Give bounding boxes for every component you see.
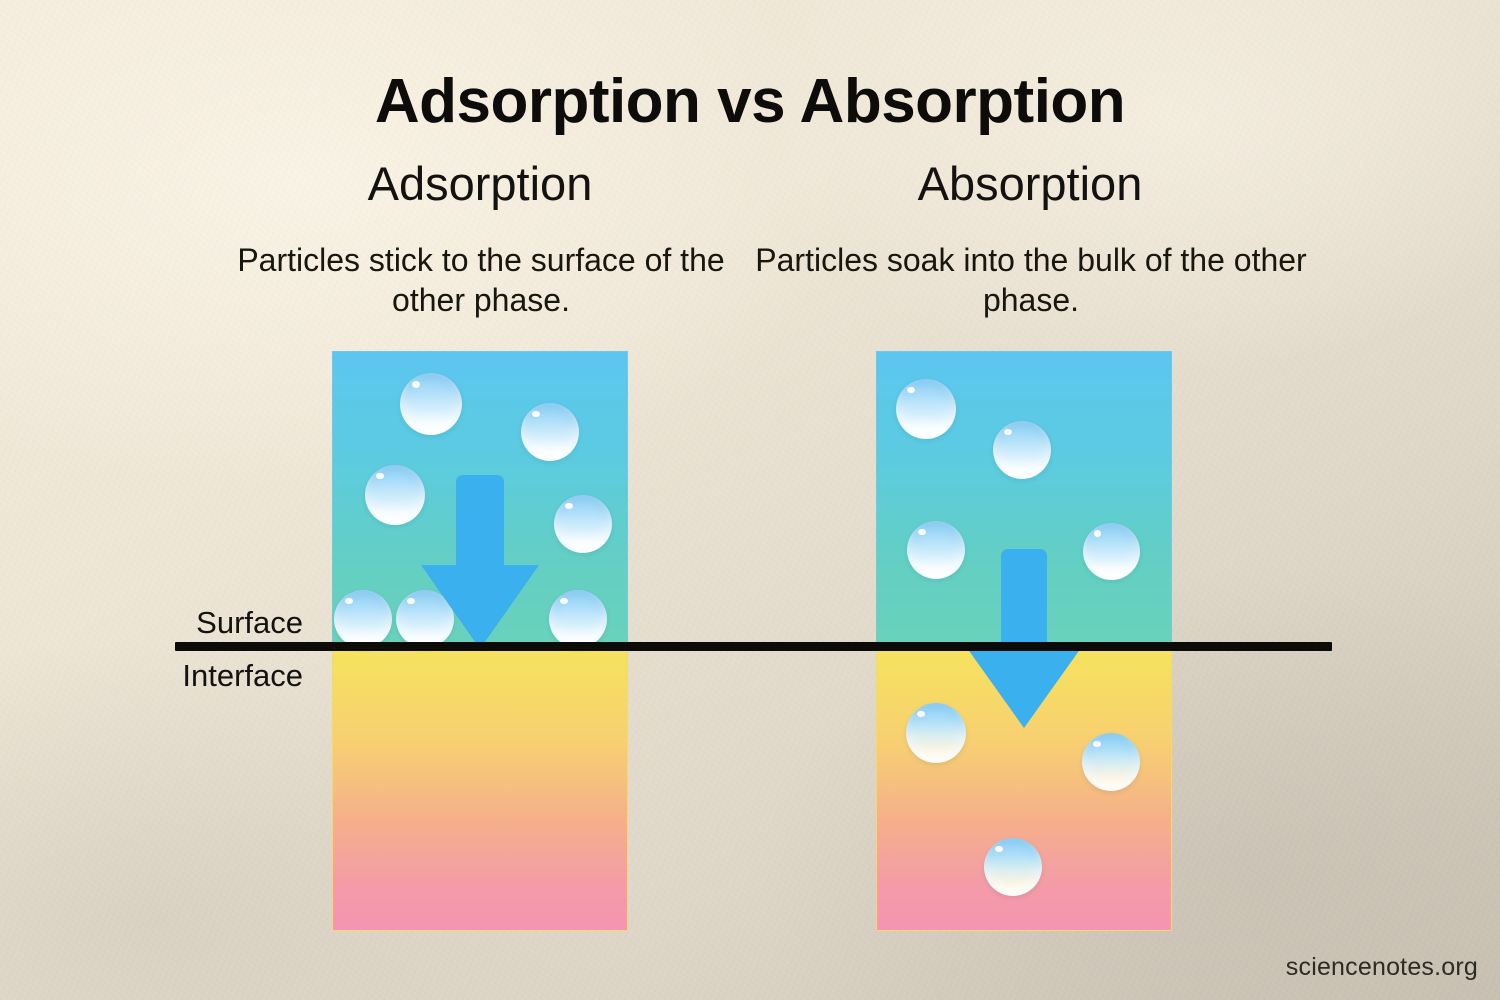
particle-bubble-absorbed (1082, 733, 1140, 791)
source-credit: sciencenotes.org (1286, 953, 1478, 982)
particle-bubble (400, 373, 462, 435)
column-description-adsorption: Particles stick to the surface of the ot… (205, 240, 757, 320)
infographic-canvas: Adsorption vs Absorption Adsorption Abso… (0, 0, 1500, 1000)
surface-label: Surface (196, 605, 303, 641)
absorption-diagram (876, 351, 1172, 931)
particle-bubble (521, 403, 579, 461)
adsorption-diagram (332, 351, 628, 931)
absorption-arrow (876, 549, 1172, 729)
column-heading-absorption: Absorption (745, 156, 1315, 211)
particle-bubble (896, 379, 956, 439)
interface-line (175, 642, 1332, 651)
page-title: Adsorption vs Absorption (0, 66, 1500, 137)
particle-bubble (993, 421, 1051, 479)
interface-label: Interface (182, 658, 303, 694)
column-description-absorption: Particles soak into the bulk of the othe… (735, 240, 1327, 320)
adsorption-bottom-phase (332, 648, 628, 931)
adsorption-arrow (332, 475, 628, 648)
paper-texture-overlay (0, 0, 1500, 1000)
column-heading-adsorption: Adsorption (195, 156, 765, 211)
particle-bubble-absorbed (984, 838, 1042, 896)
